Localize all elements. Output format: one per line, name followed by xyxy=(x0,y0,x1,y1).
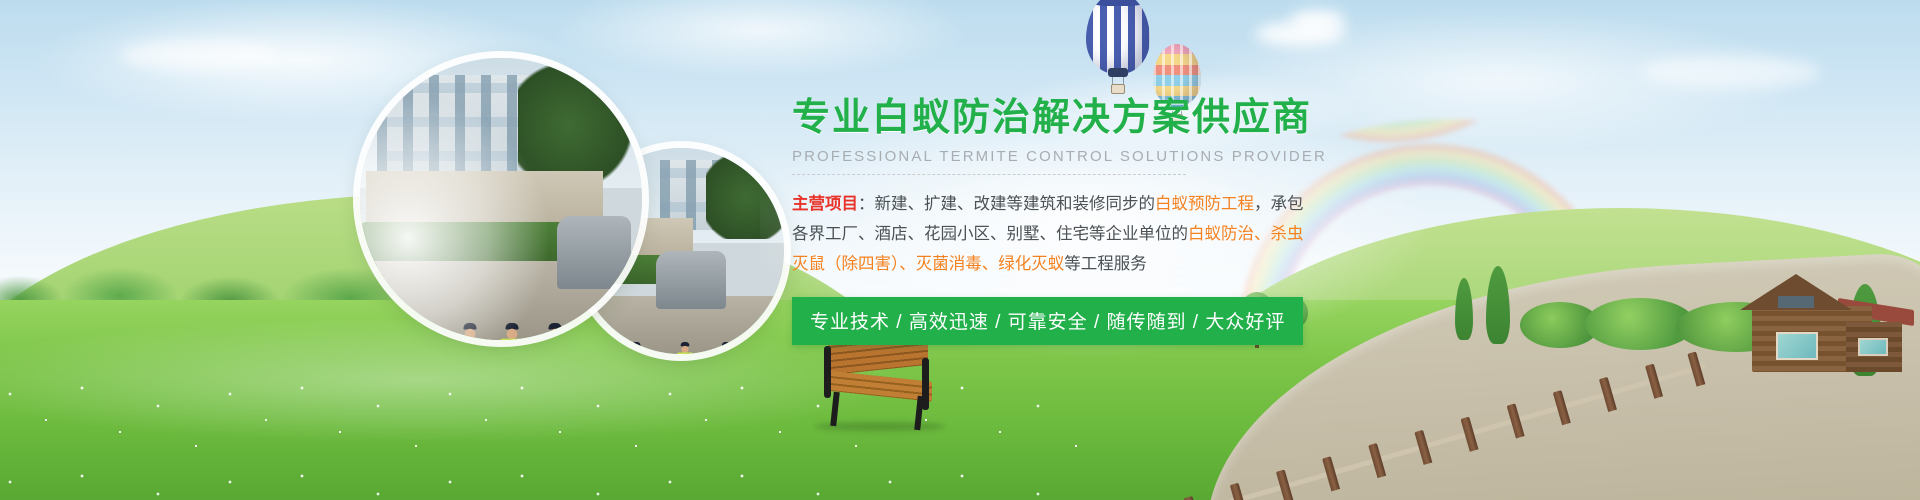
page-title: 专业白蚁防治解决方案供应商 xyxy=(792,96,1492,141)
line2-highlight: 白蚁防治、杀虫 xyxy=(1188,225,1304,243)
cloud xyxy=(120,40,280,70)
cloud xyxy=(1640,55,1820,89)
hero-banner: 专业白蚁防治解决方案供应商 PROFESSIONAL TERMITE CONTR… xyxy=(0,0,1920,500)
description-line-2: 各界工厂、酒店、花园小区、别墅、住宅等企业单位的白蚁防治、杀虫 xyxy=(792,219,1492,249)
description-line-3: 灭鼠（除四害）、灭菌消毒、绿化灭蚁等工程服务 xyxy=(792,249,1492,279)
description-line-1: 主营项目：新建、扩建、改建等建筑和装修同步的白蚁预防工程，承包 xyxy=(792,189,1492,219)
page-subtitle: PROFESSIONAL TERMITE CONTROL SOLUTIONS P… xyxy=(792,148,1492,165)
line1-text-before: 新建、扩建、改建等建筑和装修同步的 xyxy=(875,195,1156,213)
tagline-badge: 专业技术 / 高效迅速 / 可靠安全 / 随传随到 / 大众好评 xyxy=(792,297,1303,345)
line1-text-after: ，承包 xyxy=(1254,195,1304,213)
team-photo-primary xyxy=(360,58,642,340)
photo-collage xyxy=(340,58,770,378)
park-bench xyxy=(818,336,938,428)
line2-text-before: 各界工厂、酒店、花园小区、别墅、住宅等企业单位的 xyxy=(792,225,1188,243)
line3-highlight: 灭鼠（除四害）、灭菌消毒、绿化灭蚁 xyxy=(792,255,1064,273)
hot-air-balloon-blue-icon xyxy=(1086,0,1150,74)
banner-content: 专业白蚁防治解决方案供应商 PROFESSIONAL TERMITE CONTR… xyxy=(792,96,1492,345)
main-projects-label: 主营项目 xyxy=(792,195,858,213)
line1-colon: ： xyxy=(858,195,875,213)
line3-text-after: 等工程服务 xyxy=(1064,255,1147,273)
services-description: 主营项目：新建、扩建、改建等建筑和装修同步的白蚁预防工程，承包 各界工厂、酒店、… xyxy=(792,189,1492,279)
log-cabin xyxy=(1718,260,1908,378)
divider xyxy=(792,174,1186,175)
line1-highlight: 白蚁预防工程 xyxy=(1155,195,1254,213)
cloud xyxy=(1290,10,1346,32)
